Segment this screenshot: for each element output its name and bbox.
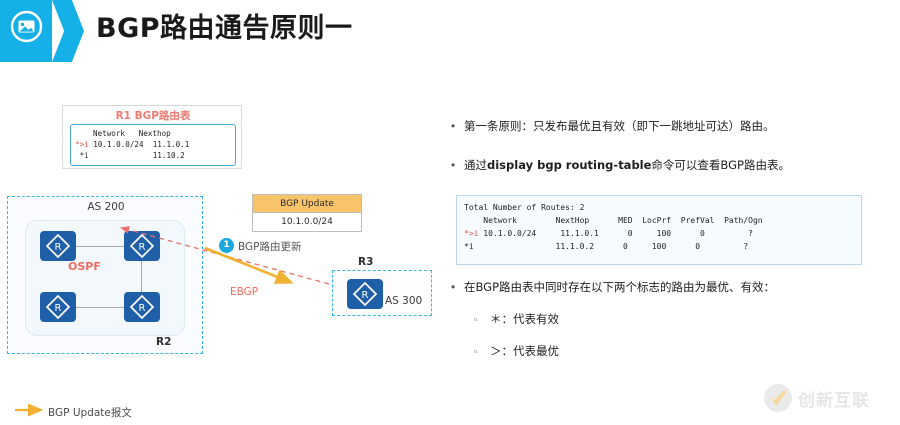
bullet-2-suffix: 命令可以查看BGP路由表。 [651, 158, 790, 172]
step-1-label: BGP路由更新 [238, 239, 302, 254]
bullet-2-prefix: 通过 [464, 158, 487, 172]
bullet-marker-icon: • [448, 117, 464, 135]
cli-route-row-2: *i 11.1.0.2 0 100 0 ? [464, 241, 748, 253]
cli-flag-valid: *i [464, 242, 474, 251]
sub-bullet-marker-icon: ▫ [474, 310, 490, 328]
bullet-marker-icon: • [448, 156, 464, 174]
legend-arrow-icon [14, 403, 48, 417]
r3-label: R3 [358, 256, 373, 268]
cli-route-row-1: *>i 10.1.0.0/24 11.1.0.1 0 100 0 ? [464, 228, 753, 240]
network-diagram: R1 BGP路由表 Network Nexthop *>i 10.1.0.0/2… [0, 78, 450, 425]
svg-text:R: R [362, 290, 369, 301]
logo-chevron-shape [52, 0, 84, 62]
sub-bullet-2-text: ＞：代表最优 [490, 342, 559, 360]
ebgp-label: EBGP [230, 286, 258, 298]
legend-label: BGP Update报文 [48, 405, 132, 420]
bullet-marker-icon: • [448, 278, 464, 296]
bullet-3-text: 在BGP路由表中同时存在以下两个标志的路由为最优、有效： [464, 278, 775, 296]
bullet-item-1: • 第一条原则：只发布最优且有效（即下一跳地址可达）路由。 [448, 117, 898, 135]
sub-bullet-item-2: ▫ ＞：代表最优 [474, 342, 874, 360]
bullet-item-3: • 在BGP路由表中同时存在以下两个标志的路由为最优、有效： [448, 278, 898, 296]
bullet-item-2: • 通过display bgp routing-table命令可以查看BGP路由… [448, 156, 898, 174]
cli-route-row-1-text: 10.1.0.0/24 11.1.0.1 0 100 0 ? [478, 229, 753, 238]
as300-boundary: R AS 300 [332, 270, 432, 316]
watermark: 创新互联 [762, 382, 890, 414]
cli-flag-best-valid: *>i [464, 229, 478, 238]
step-1-badge: 1 [219, 238, 234, 253]
watermark-logo-icon [762, 382, 794, 414]
router-as300-r3: R [347, 279, 383, 309]
sub-bullet-marker-icon: ▫ [474, 342, 490, 360]
page-title: BGP路由通告原则一 [96, 6, 353, 45]
as300-label: AS 300 [385, 295, 422, 307]
header-underline [0, 62, 84, 67]
cli-total-routes: Total Number of Routes: 2 [464, 202, 584, 214]
bullet-2-text: 通过display bgp routing-table命令可以查看BGP路由表。 [464, 156, 790, 174]
image-photo-icon [10, 10, 43, 43]
watermark-text: 创新互联 [798, 386, 870, 411]
ebgp-dashed-link [122, 228, 355, 291]
bullet-1-text: 第一条原则：只发布最优且有效（即下一跳地址可达）路由。 [464, 117, 775, 135]
cli-route-row-2-text: 11.1.0.2 0 100 0 ? [474, 242, 749, 251]
bgp-command-text: display bgp routing-table [487, 158, 651, 172]
sub-bullet-1-text: ＊：代表有效 [490, 310, 559, 328]
cli-column-headers: Network NextHop MED LocPrf PrefVal Path/… [464, 215, 763, 227]
slide-header: BGP路由通告原则一 [0, 0, 900, 72]
sub-bullet-item-1: ▫ ＊：代表有效 [474, 310, 874, 328]
bgp-routing-table-output: Total Number of Routes: 2 Network NextHo… [456, 195, 862, 265]
